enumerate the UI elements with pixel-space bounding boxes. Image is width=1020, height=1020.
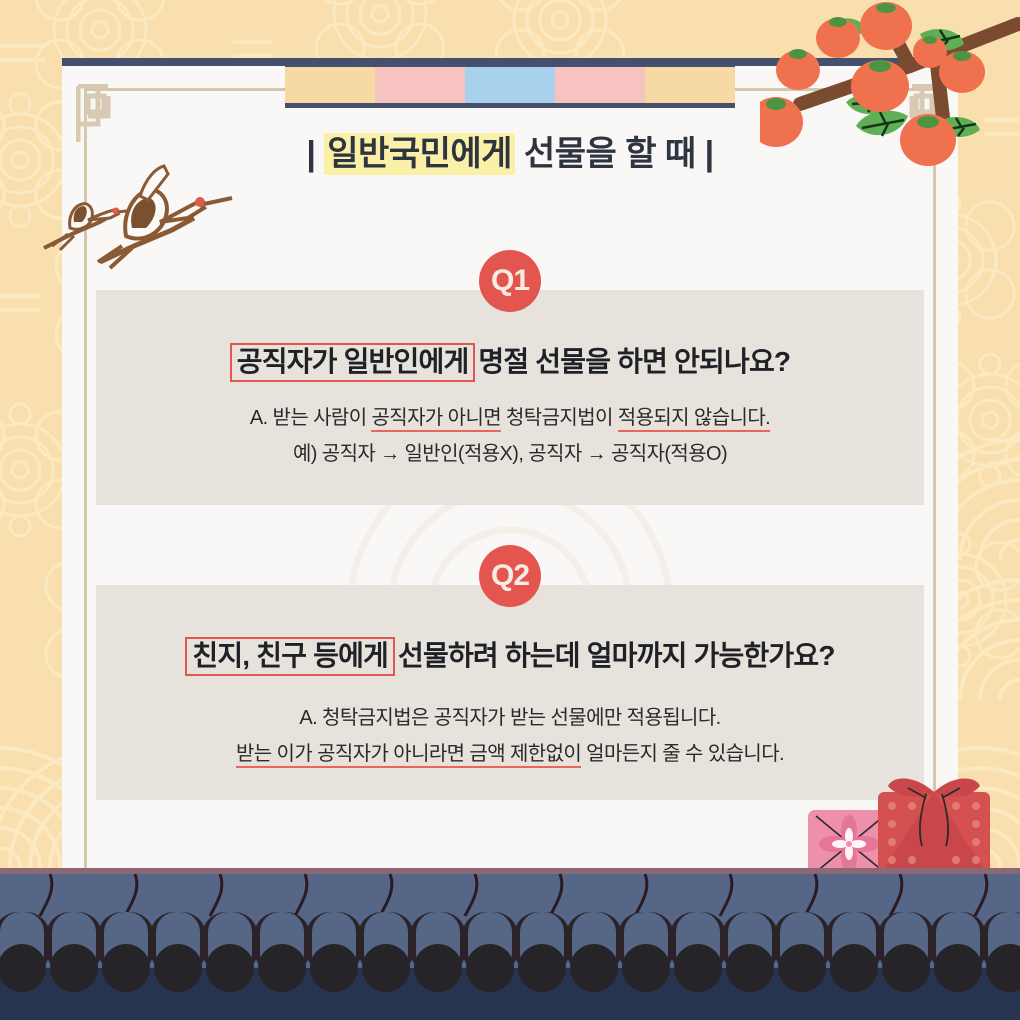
answer-phrase: A. 받는 사람이 [250, 407, 372, 429]
persimmon-branch-icon [760, 0, 1020, 204]
question-2-boxed-phrase: 친지, 친구 등에게 [185, 637, 395, 676]
title-bar-left: | [306, 135, 315, 173]
question-badge-1: Q1 [479, 250, 541, 312]
qa-panel-1 [96, 290, 924, 505]
red-bojagi-bundle-icon [878, 778, 990, 878]
answer-underlined-phrase: 공직자가 아니면 [371, 407, 501, 432]
title-highlight: 일반국민에게 [324, 133, 515, 175]
answer-underlined-phrase: 받는 이가 공직자가 아니라면 금액 제한없이 [236, 743, 581, 768]
answer-line: 예) 공직자 → 일반인(적용X), 공직자 → 공직자(적용O) [0, 436, 1020, 472]
flying-crane-icon-small [44, 204, 134, 250]
persimmon-fruit [939, 51, 985, 93]
question-text-2: 친지, 친구 등에게선물하려 하는데 얼마까지 가능한가요? [0, 634, 1020, 674]
answer-line: A. 청탁금지법은 공직자가 받는 선물에만 적용됩니다. [0, 700, 1020, 736]
answer-phrase: A. 청탁금지법은 공직자가 받는 선물에만 적용됩니다. [299, 707, 720, 729]
question-text-1: 공직자가 일반인에게명절 선물을 하면 안되나요? [0, 340, 1020, 380]
persimmon-fruit [900, 114, 956, 166]
answer-line: 받는 이가 공직자가 아니라면 금액 제한없이 얼마든지 줄 수 있습니다. [0, 736, 1020, 772]
persimmon-fruit [851, 60, 909, 112]
answer-phrase: 청탁금지법이 [501, 407, 618, 429]
decorative-header-bar [285, 62, 735, 108]
question-1-rest: 명절 선물을 하면 안되나요? [478, 346, 790, 377]
header-bar-segments [285, 67, 735, 103]
header-bar-segment-4 [555, 67, 645, 103]
header-bar-segment-1 [285, 67, 375, 103]
question-1-boxed-phrase: 공직자가 일반인에게 [230, 343, 476, 382]
answer-underlined-phrase: 적용되지 않습니다. [618, 407, 770, 432]
persimmon-fruit [776, 49, 820, 90]
korean-roof-tiles-icon [0, 868, 1020, 1020]
answer-phrase: 얼마든지 줄 수 있습니다. [581, 743, 784, 765]
header-bar-segment-3 [465, 67, 555, 103]
header-bar-line-bottom [285, 103, 735, 108]
persimmon-fruit [860, 2, 912, 50]
question-2-rest: 선물하려 하는데 얼마까지 가능한가요? [398, 640, 835, 671]
question-badge-2: Q2 [479, 545, 541, 607]
answer-text-1: A. 받는 사람이 공직자가 아니면 청탁금지법이 적용되지 않습니다.예) 공… [0, 400, 1020, 472]
header-bar-segment-2 [375, 67, 465, 103]
answer-text-2: A. 청탁금지법은 공직자가 받는 선물에만 적용됩니다.받는 이가 공직자가 … [0, 700, 1020, 772]
title-rest: 선물을 할 때 [515, 135, 705, 173]
title-bar-right: | [705, 135, 714, 173]
flying-crane-icon-large [98, 166, 232, 268]
header-bar-segment-5 [645, 67, 735, 103]
answer-line: A. 받는 사람이 공직자가 아니면 청탁금지법이 적용되지 않습니다. [0, 400, 1020, 436]
persimmon-fruit-group [760, 2, 985, 166]
answer-phrase: 예) 공직자 → 일반인(적용X), 공직자 → 공직자(적용O) [293, 443, 727, 465]
flying-crane-icon-group [22, 150, 242, 280]
